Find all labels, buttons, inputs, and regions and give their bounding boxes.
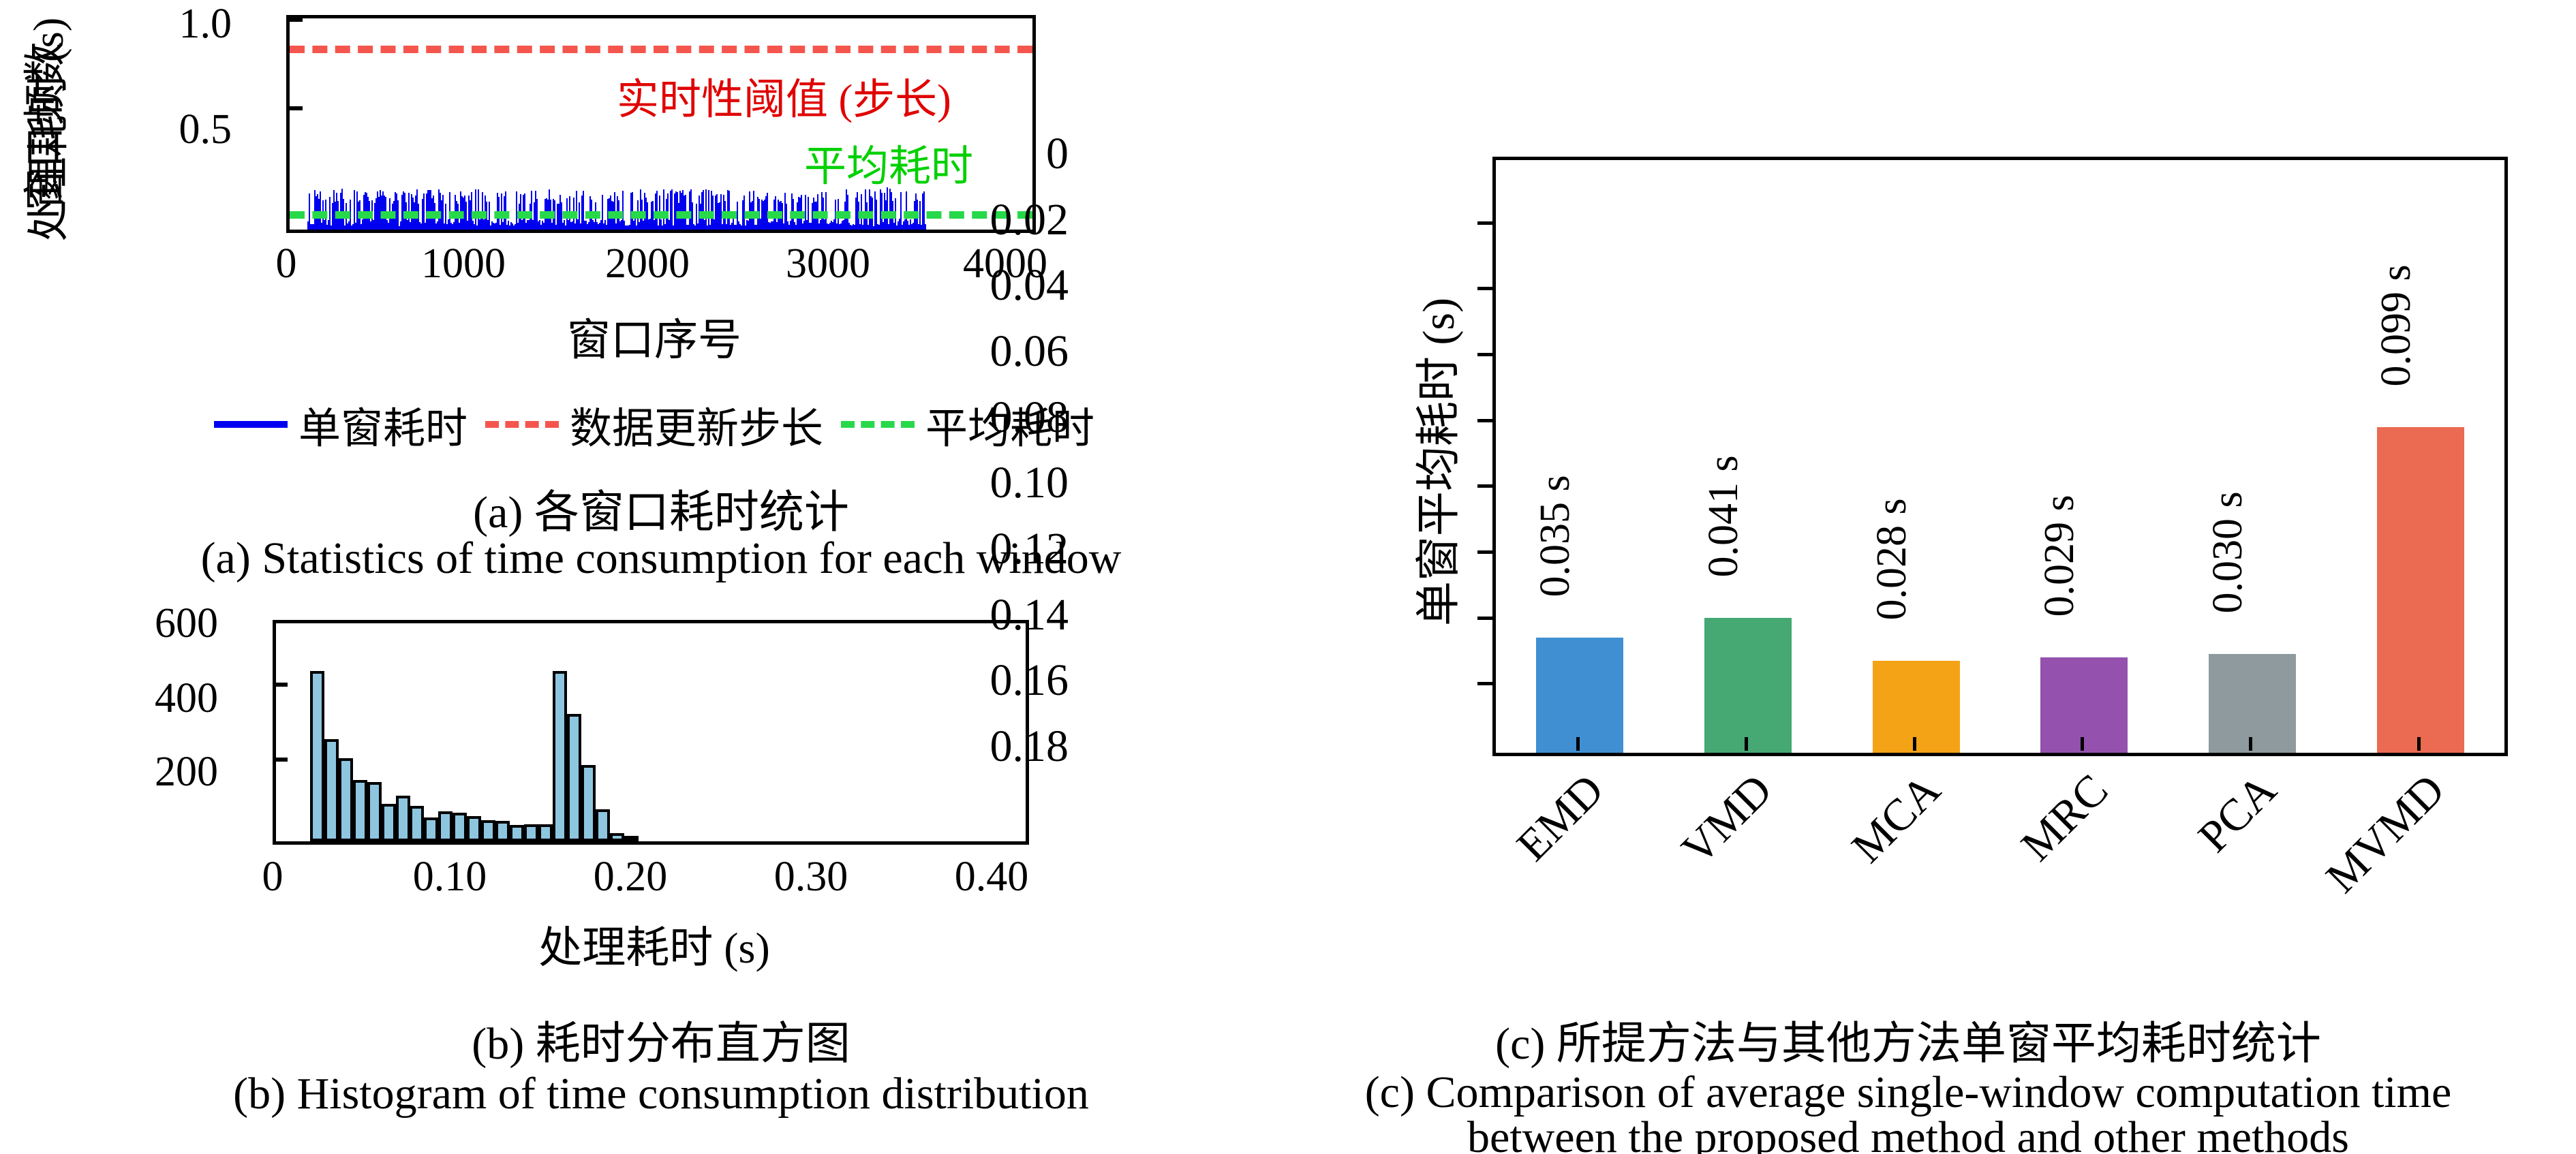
panel-a-xtick-3: 3000	[746, 240, 910, 288]
histogram-bar	[310, 671, 324, 841]
bar-fill	[2040, 657, 2128, 753]
panel-c-ytick-0: 0.18	[990, 721, 1069, 773]
panel-a-tickmark-05	[286, 106, 303, 110]
panel-b-caption-cn: (b) 耗时分布直方图	[116, 1007, 1206, 1072]
annotation-mean: 平均耗时	[804, 131, 973, 193]
panel-c-tickmark-2	[1477, 617, 1492, 620]
panel-a-xtick-2: 2000	[566, 240, 729, 288]
histogram-bar	[581, 765, 596, 842]
bar-value-label: 0.035 s	[1531, 475, 1580, 597]
histogram-bar	[538, 824, 553, 841]
panel-a-xtick-1: 1000	[382, 240, 545, 288]
panel-b-xtick-3: 0.30	[722, 853, 900, 901]
panel-c-xtickmark-1	[1745, 737, 1748, 751]
panel-c-ytick-9: 0	[1046, 128, 1069, 180]
panel-c-xtick-mca: MCA	[1789, 764, 1951, 926]
panel-c-caption-en-line2: between the proposed method and other me…	[1281, 1112, 2535, 1154]
panel-a-caption-en: (a) Statistics of time consumption for e…	[68, 533, 1254, 584]
bar-fill	[2209, 654, 2296, 753]
bar-mvmd[interactable]: 0.099 s	[2377, 427, 2464, 753]
panel-b-ytick-600: 600	[82, 599, 218, 648]
bar-value-label: 0.028 s	[1868, 498, 1916, 620]
panel-b-ytick-200: 200	[82, 748, 218, 796]
bar-value-label: 0.030 s	[2204, 491, 2252, 613]
panel-c-tickmark-8	[1477, 221, 1492, 225]
legend-label-single-window: 单窗耗时	[298, 394, 467, 455]
panel-b-xlabel: 处理耗时 (s)	[382, 913, 927, 976]
histogram-bar	[553, 671, 567, 841]
panel-a-ytick-0: 1.0	[95, 0, 232, 48]
panel-b-xtick-2: 0.20	[542, 853, 719, 901]
histogram-bar	[410, 806, 424, 842]
panel-b-tickmark-200	[273, 758, 288, 762]
panel-c-ytick-6: 0.06	[990, 326, 1069, 377]
panel-b-ylabel: 窗口频数	[10, 0, 72, 276]
panel-c-ytick-7: 0.04	[990, 260, 1069, 311]
panel-c-xtickmark-5	[2417, 737, 2421, 751]
bar-fill	[1536, 638, 1623, 753]
panel-c-xtick-pca: PCA	[2125, 764, 2287, 926]
panel-b-xtick-4: 0.40	[903, 853, 1080, 901]
panel-c-ylabel: 单窗平均耗时 (s)	[1402, 223, 1467, 700]
panel-b-ytick-400: 400	[82, 674, 218, 723]
panel-a-tickmark-1	[286, 18, 303, 22]
histogram-bar	[610, 833, 624, 842]
panel-c-tickmark-4	[1477, 484, 1492, 488]
panel-c-xtick-mvmd: MVMD	[2293, 764, 2455, 926]
threshold-line	[290, 46, 1032, 53]
panel-c-xtick-emd: EMD	[1452, 764, 1614, 926]
histogram-bar	[453, 813, 467, 842]
panel-c-xtickmark-2	[1913, 737, 1916, 751]
bar-vmd[interactable]: 0.041 s	[1704, 618, 1792, 753]
figure-root: 处理耗时 (s) 1.0 0.5 0 1000 2000 3000 4000 窗…	[0, 0, 2576, 1154]
bar-emd[interactable]: 0.035 s	[1536, 638, 1623, 753]
histogram-bar	[396, 796, 410, 842]
bar-mrc[interactable]: 0.029 s	[2040, 657, 2128, 753]
panel-c-tickmark-5	[1477, 419, 1492, 422]
histogram-bar	[424, 817, 438, 841]
histogram-bar	[339, 758, 353, 842]
histogram-bars	[276, 623, 1026, 841]
histogram-bar	[324, 739, 339, 841]
panel-c-ytick-5: 0.08	[990, 392, 1069, 443]
panel-a-xlabel: 窗口序号	[382, 305, 927, 368]
panel-c-xtickmark-4	[2249, 737, 2252, 751]
panel-c-ytick-3: 0.12	[990, 523, 1069, 575]
panel-b-caption-en: (b) Histogram of time consumption distri…	[75, 1068, 1247, 1120]
histogram-bar	[438, 811, 453, 841]
panel-c-ytick-1: 0.16	[990, 655, 1069, 706]
legend-swatch-dashed-green-icon	[841, 421, 915, 428]
histogram-bar	[624, 836, 639, 841]
panel-a-xtick-0: 0	[239, 240, 334, 288]
panel-c-ytick-4: 0.10	[990, 457, 1069, 509]
histogram-bar	[495, 821, 510, 841]
panel-c-xtick-mrc: MRC	[1957, 764, 2119, 926]
histogram-bar	[510, 825, 524, 841]
panel-c-tickmark-7	[1477, 287, 1492, 290]
histogram-bar	[353, 780, 367, 841]
legend-swatch-solid-blue-icon	[214, 421, 288, 428]
panel-b-xtick-0: 0	[232, 853, 313, 901]
histogram-bar	[524, 824, 538, 841]
panel-c-ytick-2: 0.14	[990, 589, 1069, 641]
annotation-threshold: 实时性阈值 (步长)	[617, 65, 951, 126]
panel-b-plot-area	[273, 620, 1029, 845]
histogram-bar	[596, 809, 610, 842]
panel-c-plot-area: 0.035 s0.041 s0.028 s0.029 s0.030 s0.099…	[1492, 157, 2508, 756]
histogram-bar	[481, 820, 495, 841]
panel-c-xtickmark-3	[2081, 737, 2084, 751]
bar-fill	[2377, 427, 2464, 753]
panel-b-tickmark-400	[273, 683, 288, 687]
bar-value-label: 0.099 s	[2372, 264, 2421, 386]
bar-pca[interactable]: 0.030 s	[2209, 654, 2296, 753]
panel-a-ytick-1: 0.5	[95, 106, 232, 154]
panel-c-tickmark-1	[1477, 682, 1492, 685]
panel-c-tickmark-6	[1477, 353, 1492, 356]
bar-group: 0.035 s0.041 s0.028 s0.029 s0.030 s0.099…	[1496, 160, 2504, 753]
legend-label-update-step: 数据更新步长	[570, 394, 823, 455]
bar-fill	[1704, 618, 1792, 753]
panel-c-caption-cn: (c) 所提方法与其他方法单窗平均耗时统计	[1329, 1007, 2487, 1072]
histogram-bar	[567, 714, 581, 842]
legend-item-update-step: 数据更新步长	[485, 394, 823, 455]
panel-c-caption-en-line1: (c) Comparison of average single-window …	[1281, 1067, 2535, 1119]
bar-value-label: 0.029 s	[2036, 495, 2084, 617]
mean-line	[290, 211, 1032, 219]
histogram-bar	[382, 804, 396, 841]
histogram-bar	[367, 782, 382, 842]
panel-b-xtick-1: 0.10	[361, 853, 538, 901]
histogram-bar	[467, 816, 481, 842]
panel-c-xtickmark-0	[1576, 737, 1580, 751]
panel-c-ytick-8: 0.02	[990, 194, 1069, 246]
panel-c-xtick-vmd: VMD	[1621, 764, 1783, 926]
bar-value-label: 0.041 s	[1700, 455, 1748, 577]
legend-swatch-dashed-red-icon	[485, 421, 559, 428]
panel-c-tickmark-3	[1477, 550, 1492, 554]
legend-item-single-window: 单窗耗时	[214, 394, 467, 455]
